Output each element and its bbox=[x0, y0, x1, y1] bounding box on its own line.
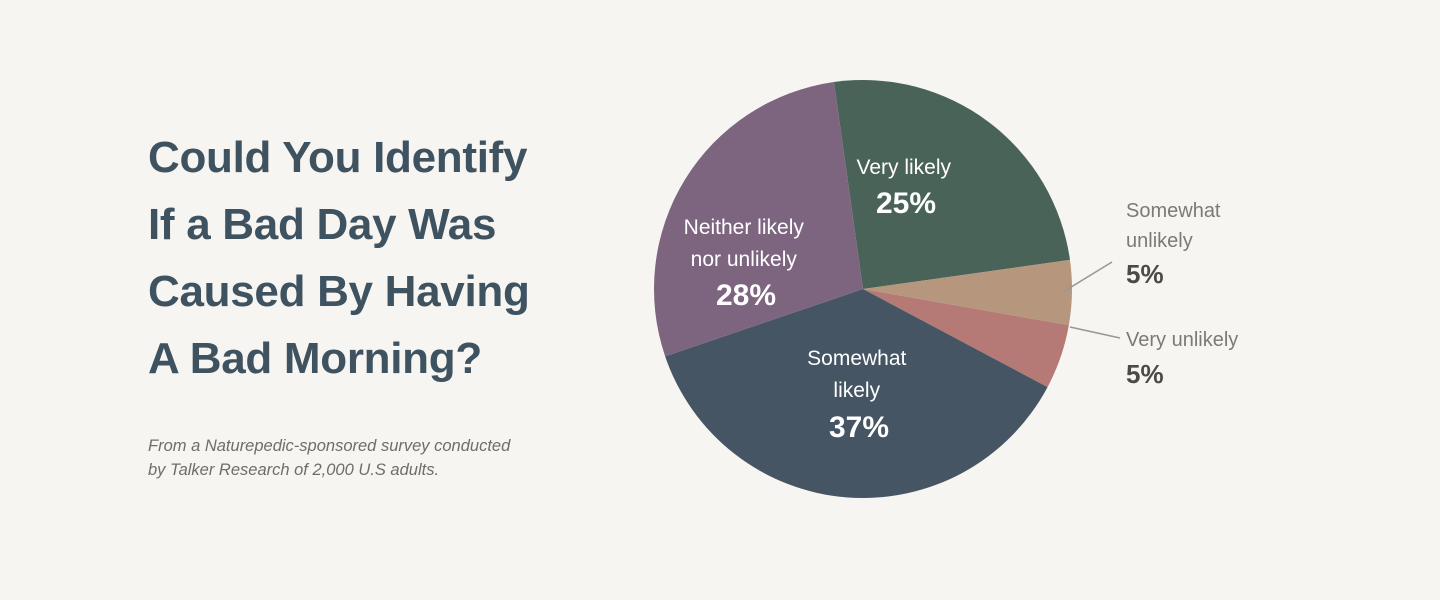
page-title: Could You Identify If a Bad Day Was Caus… bbox=[148, 124, 618, 392]
attribution-text: From a Naturepedic-sponsored survey cond… bbox=[148, 392, 588, 482]
slice-label-neither-line2: nor unlikely bbox=[691, 248, 798, 271]
slice-label-neither-pct: 28% bbox=[716, 279, 776, 312]
pie-chart: Very likely 25% Neither likely nor unlik… bbox=[620, 40, 1420, 560]
attribution-line-1: From a Naturepedic-sponsored survey cond… bbox=[148, 434, 588, 458]
infographic-canvas: Could You Identify If a Bad Day Was Caus… bbox=[0, 0, 1440, 600]
slice-label-very-likely-pct: 25% bbox=[876, 187, 936, 220]
headline-line-2: If a Bad Day Was bbox=[148, 191, 618, 258]
callout-somewhat-unlikely-line2: unlikely bbox=[1126, 230, 1193, 252]
callout-somewhat-unlikely-line1: Somewhat bbox=[1126, 200, 1221, 222]
slice-label-somewhat-likely-line2: likely bbox=[833, 379, 880, 402]
leader-line-very-unlikely bbox=[1070, 327, 1120, 338]
callout-very-unlikely: Very unlikely 5% bbox=[1126, 329, 1243, 389]
slice-label-somewhat-likely-pct: 37% bbox=[829, 411, 889, 444]
slice-label-neither-line1: Neither likely bbox=[684, 216, 805, 239]
headline-line-4: A Bad Morning? bbox=[148, 325, 618, 392]
slice-label-somewhat-likely-line1: Somewhat bbox=[807, 347, 906, 370]
callout-very-unlikely-line1: Very unlikely bbox=[1126, 329, 1238, 351]
callout-somewhat-unlikely: Somewhat unlikely 5% bbox=[1126, 200, 1225, 289]
headline-line-1: Could You Identify bbox=[148, 124, 618, 191]
callout-very-unlikely-pct: 5% bbox=[1126, 359, 1164, 389]
headline-line-3: Caused By Having bbox=[148, 258, 618, 325]
slice-label-very-likely-name: Very likely bbox=[857, 156, 952, 179]
attribution-line-2: by Talker Research of 2,000 U.S adults. bbox=[148, 458, 588, 482]
callout-somewhat-unlikely-pct: 5% bbox=[1126, 259, 1164, 289]
text-panel: Could You Identify If a Bad Day Was Caus… bbox=[148, 124, 618, 482]
pie-chart-svg: Very likely 25% Neither likely nor unlik… bbox=[620, 40, 1420, 560]
wedge-very-likely[interactable] bbox=[834, 80, 1070, 289]
